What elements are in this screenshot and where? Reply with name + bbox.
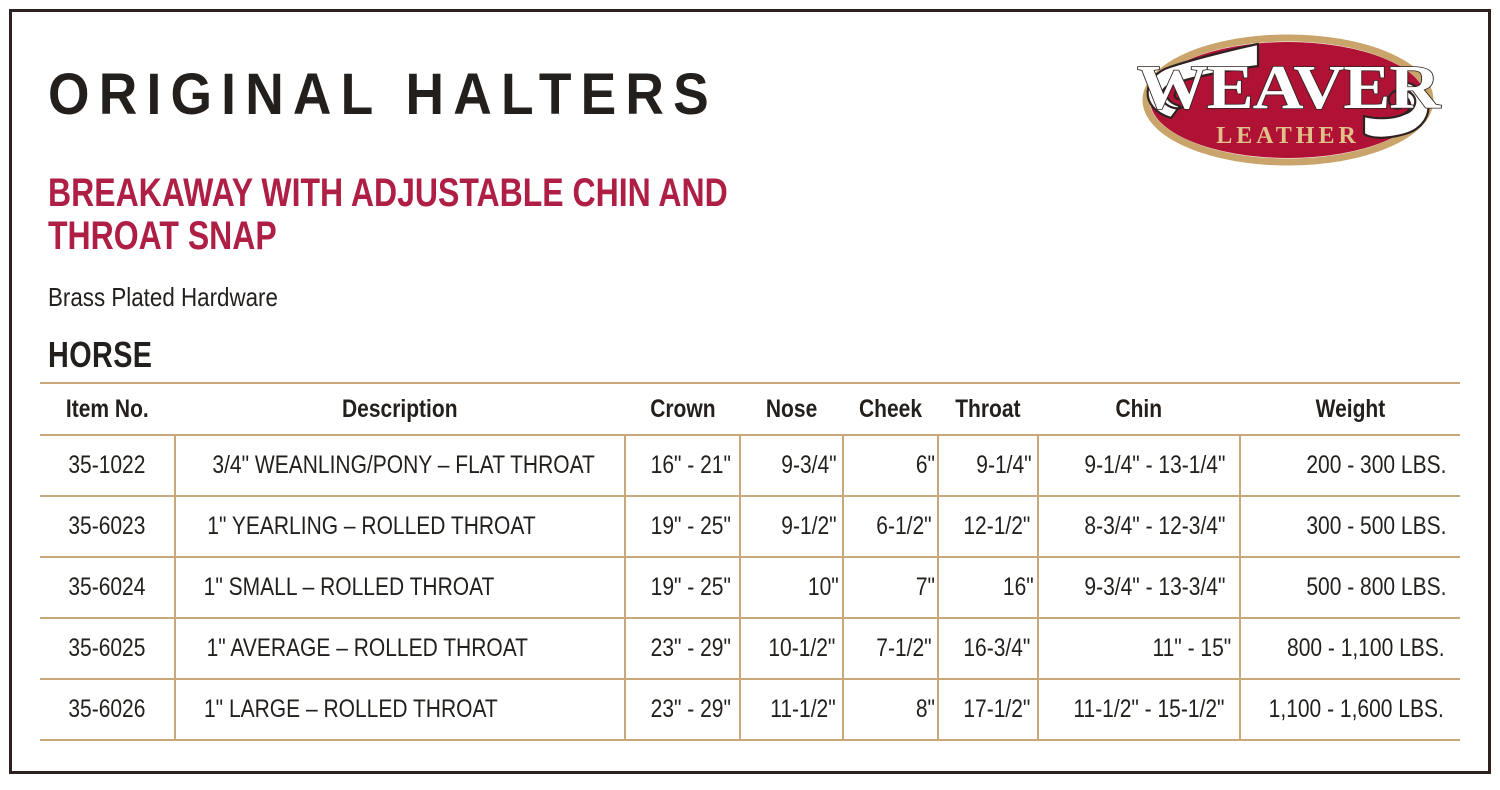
cell-chin: 11" - 15" <box>1038 618 1240 679</box>
page-subtitle: BREAKAWAY WITH ADJUSTABLE CHIN AND THROA… <box>48 172 752 258</box>
cell-throat: 16-3/4" <box>938 618 1038 679</box>
cell-chin: 9-3/4" - 13-3/4" <box>1038 557 1240 618</box>
cell-throat: 9-1/4" <box>938 435 1038 496</box>
cell-description: 1" SMALL – ROLLED THROAT <box>175 557 625 618</box>
table-row: 35-6026 1" LARGE – ROLLED THROAT 23" - 2… <box>40 679 1460 740</box>
hardware-note: Brass Plated Hardware <box>48 282 278 313</box>
cell-nose: 10-1/2" <box>740 618 843 679</box>
cell-crown: 23" - 29" <box>625 618 740 679</box>
cell-item-no: 35-6023 <box>40 496 175 557</box>
cell-cheek: 6" <box>843 435 938 496</box>
cell-item-no: 35-6024 <box>40 557 175 618</box>
cell-cheek: 7" <box>843 557 938 618</box>
cell-weight: 200 - 300 LBS. <box>1240 435 1460 496</box>
cell-crown: 16" - 21" <box>625 435 740 496</box>
cell-nose: 9-3/4" <box>740 435 843 496</box>
column-header-item-no: Item No. <box>40 383 175 435</box>
cell-item-no: 35-6025 <box>40 618 175 679</box>
cell-description: 3/4" WEANLING/PONY – FLAT THROAT <box>175 435 625 496</box>
cell-weight: 500 - 800 LBS. <box>1240 557 1460 618</box>
cell-throat: 17-1/2" <box>938 679 1038 740</box>
cell-description: 1" AVERAGE – ROLLED THROAT <box>175 618 625 679</box>
cell-throat: 12-1/2" <box>938 496 1038 557</box>
cell-chin: 9-1/4" - 13-1/4" <box>1038 435 1240 496</box>
cell-cheek: 7-1/2" <box>843 618 938 679</box>
column-header-cheek: Cheek <box>843 383 938 435</box>
cell-nose: 10" <box>740 557 843 618</box>
table-row: 35-1022 3/4" WEANLING/PONY – FLAT THROAT… <box>40 435 1460 496</box>
cell-item-no: 35-1022 <box>40 435 175 496</box>
size-chart-table-wrapper: Item No. Description Crown Nose Cheek Th… <box>40 382 1460 741</box>
cell-weight: 1,100 - 1,600 LBS. <box>1240 679 1460 740</box>
cell-nose: 11-1/2" <box>740 679 843 740</box>
column-header-description: Description <box>175 383 625 435</box>
cell-chin: 11-1/2" - 15-1/2" <box>1038 679 1240 740</box>
halter-spec-sheet: ORIGINAL HALTERS BREAKAWAY WITH ADJUSTAB… <box>0 0 1500 790</box>
cell-throat: 16" <box>938 557 1038 618</box>
svg-text:WEAVER: WEAVER <box>1137 54 1441 122</box>
page-title: ORIGINAL HALTERS <box>48 66 718 124</box>
cell-cheek: 8" <box>843 679 938 740</box>
table-row: 35-6023 1" YEARLING – ROLLED THROAT 19" … <box>40 496 1460 557</box>
cell-description: 1" LARGE – ROLLED THROAT <box>175 679 625 740</box>
column-header-throat: Throat <box>938 383 1038 435</box>
cell-weight: 800 - 1,100 LBS. <box>1240 618 1460 679</box>
cell-nose: 9-1/2" <box>740 496 843 557</box>
table-row: 35-6024 1" SMALL – ROLLED THROAT 19" - 2… <box>40 557 1460 618</box>
cell-item-no: 35-6026 <box>40 679 175 740</box>
weaver-leather-logo: WEAVER LEATHER <box>1108 22 1468 182</box>
section-heading-horse: HORSE <box>48 334 152 376</box>
column-header-crown: Crown <box>625 383 740 435</box>
cell-chin: 8-3/4" - 12-3/4" <box>1038 496 1240 557</box>
column-header-nose: Nose <box>740 383 843 435</box>
column-header-chin: Chin <box>1038 383 1240 435</box>
size-chart-table: Item No. Description Crown Nose Cheek Th… <box>40 382 1460 741</box>
cell-crown: 19" - 25" <box>625 496 740 557</box>
table-header-row: Item No. Description Crown Nose Cheek Th… <box>40 383 1460 435</box>
cell-crown: 19" - 25" <box>625 557 740 618</box>
cell-crown: 23" - 29" <box>625 679 740 740</box>
cell-weight: 300 - 500 LBS. <box>1240 496 1460 557</box>
column-header-weight: Weight <box>1240 383 1460 435</box>
table-row: 35-6025 1" AVERAGE – ROLLED THROAT 23" -… <box>40 618 1460 679</box>
cell-cheek: 6-1/2" <box>843 496 938 557</box>
cell-description: 1" YEARLING – ROLLED THROAT <box>175 496 625 557</box>
svg-text:LEATHER: LEATHER <box>1216 123 1360 149</box>
